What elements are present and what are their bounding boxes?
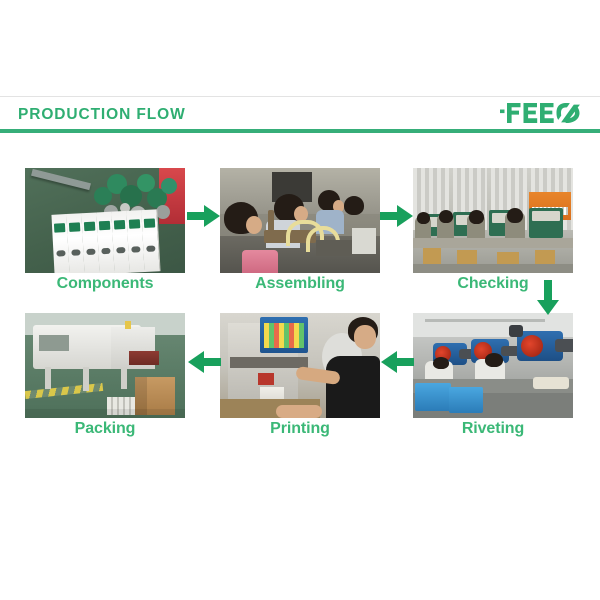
photo-riveting	[413, 313, 573, 418]
flow-step-assembling[interactable]: Assembling	[220, 168, 380, 303]
flow-step-label: Riveting	[413, 420, 573, 438]
arrow-printing-to-packing-icon	[187, 349, 221, 375]
flow-step-label: Packing	[25, 420, 185, 438]
page-title: PRODUCTION FLOW	[18, 106, 186, 124]
arrow-riveting-to-printing-icon	[380, 349, 414, 375]
flow-step-printing[interactable]: Printing	[220, 313, 380, 448]
photo-assembling	[220, 168, 380, 273]
arrow-assembling-to-checking-icon	[380, 203, 414, 229]
photo-checking	[413, 168, 573, 273]
arrow-components-to-assembling-icon	[187, 203, 221, 229]
flow-row-bottom: Packing Printing	[0, 313, 600, 448]
page-header: PRODUCTION FLOW	[0, 96, 600, 136]
flow-step-packing[interactable]: Packing	[25, 313, 185, 448]
flow-step-label: Components	[25, 275, 185, 293]
flow-step-label: Assembling	[220, 275, 380, 293]
flow-row-top: Components	[0, 168, 600, 303]
header-accent-rule	[0, 129, 600, 133]
photo-packing	[25, 313, 185, 418]
flow-step-components[interactable]: Components	[25, 168, 185, 303]
feeo-logo-icon	[500, 102, 586, 126]
flow-step-riveting[interactable]: Riveting	[413, 313, 573, 448]
flow-step-label: Printing	[220, 420, 380, 438]
photo-components	[25, 168, 185, 273]
arrow-checking-to-riveting-icon	[535, 280, 561, 316]
photo-printing	[220, 313, 380, 418]
